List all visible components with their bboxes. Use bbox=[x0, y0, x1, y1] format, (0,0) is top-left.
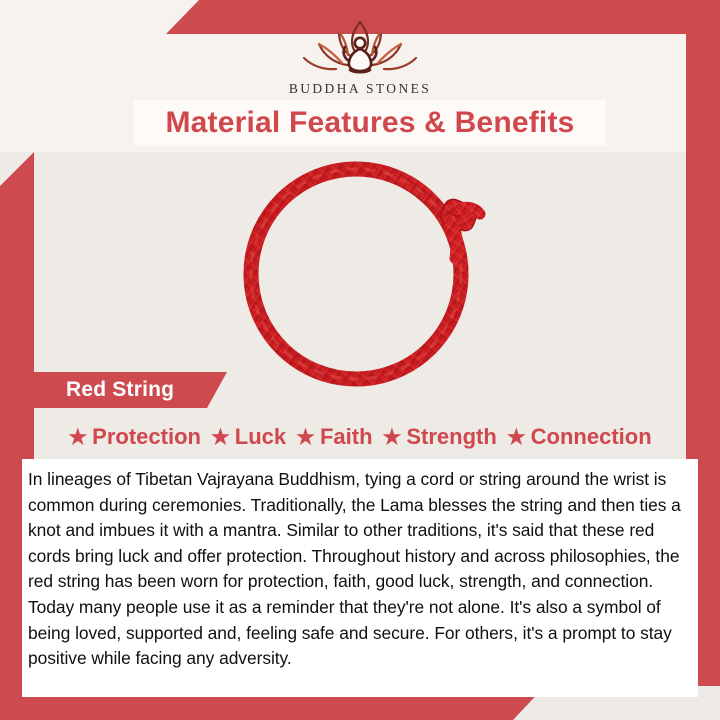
product-ribbon: Red String bbox=[22, 372, 227, 408]
star-icon: ★ bbox=[211, 427, 230, 448]
page-title-banner: Material Features & Benefits bbox=[134, 100, 606, 146]
feature-label: Connection bbox=[531, 424, 652, 450]
star-icon: ★ bbox=[383, 427, 402, 448]
star-icon: ★ bbox=[507, 427, 526, 448]
feature-label: Luck bbox=[235, 424, 286, 450]
feature-item-faith: ★ Faith bbox=[296, 424, 372, 450]
feature-list: ★ Protection ★ Luck ★ Faith ★ Strength ★… bbox=[22, 419, 698, 455]
product-image-red-string-bracelet bbox=[228, 158, 504, 388]
star-icon: ★ bbox=[296, 427, 315, 448]
feature-label: Faith bbox=[320, 424, 373, 450]
brand-name: BUDDHA STONES bbox=[0, 81, 720, 97]
ribbon-label: Red String bbox=[22, 378, 174, 402]
description-text: In lineages of Tibetan Vajrayana Buddhis… bbox=[28, 467, 686, 672]
feature-item-strength: ★ Strength bbox=[383, 424, 497, 450]
lotus-meditation-icon bbox=[298, 16, 422, 78]
feature-item-connection: ★ Connection bbox=[507, 424, 652, 450]
feature-label: Protection bbox=[92, 424, 201, 450]
description-panel: In lineages of Tibetan Vajrayana Buddhis… bbox=[22, 459, 698, 697]
feature-item-protection: ★ Protection bbox=[68, 424, 201, 450]
brand-logo: BUDDHA STONES bbox=[0, 16, 720, 97]
infographic-page: BUDDHA STONES Material Features & Benefi… bbox=[0, 0, 720, 720]
star-icon: ★ bbox=[68, 427, 87, 448]
feature-item-luck: ★ Luck bbox=[211, 424, 286, 450]
page-title: Material Features & Benefits bbox=[165, 106, 574, 140]
feature-label: Strength bbox=[406, 424, 496, 450]
